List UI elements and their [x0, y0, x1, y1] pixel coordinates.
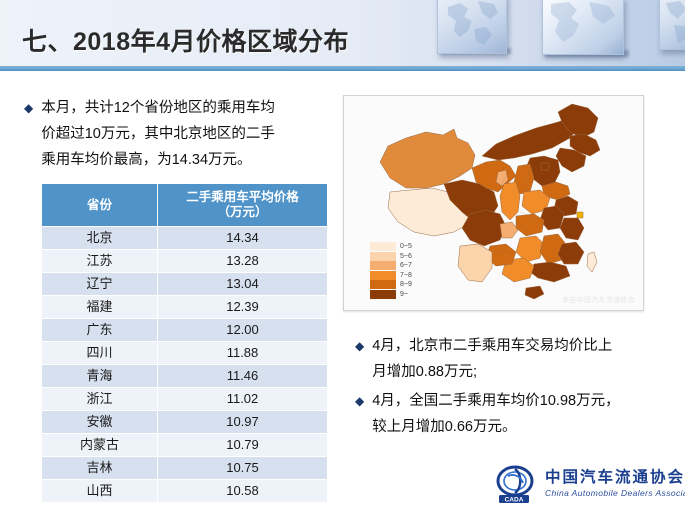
cell-price: 13.28 [158, 250, 328, 273]
summary-line-2: 价超过10万元，其中北京地区的二手 [41, 121, 275, 147]
summary-line-1: 本月，共计12个省份地区的乘用车均 [41, 95, 275, 121]
legend-item: 5~6 [370, 252, 412, 262]
cell-price: 11.88 [158, 342, 328, 365]
insight-bullet-1: ◆ 4月，北京市二手乘用车交易均价比上 月增加0.88万元; [355, 333, 655, 385]
summary-line-3: 乘用车均价最高，为14.34万元。 [41, 147, 275, 173]
cell-price: 10.97 [158, 411, 328, 434]
cell-price: 11.46 [158, 365, 328, 388]
cell-province: 福建 [42, 296, 158, 319]
legend-item: 0~5 [370, 242, 412, 252]
column-header-price: 二手乘用车平均价格 （万元） [158, 184, 328, 227]
table-row: 内蒙古10.79 [42, 434, 328, 457]
cell-price: 10.58 [158, 480, 328, 503]
legend-label: 8~9 [400, 280, 412, 290]
legend-label: 5~6 [400, 252, 412, 262]
province-price-table: 省份 二手乘用车平均价格 （万元） 北京14.34 江苏13.28 辽宁13.0… [41, 183, 328, 503]
cada-emblem-icon: CADA [495, 464, 539, 504]
column-header-price-line2: （万元） [160, 205, 325, 220]
insight-1-line-1: 4月，北京市二手乘用车交易均价比上 [372, 333, 612, 359]
cada-emblem-svg: CADA [495, 464, 539, 504]
legend-item: 8~9 [370, 280, 412, 290]
bullet-diamond-icon: ◆ [355, 388, 364, 414]
cada-name-cn: 中国汽车流通协会 [545, 470, 685, 486]
insight-bullets: ◆ 4月，北京市二手乘用车交易均价比上 月增加0.88万元; ◆ 4月，全国二手… [355, 333, 655, 443]
table-row: 福建12.39 [42, 296, 328, 319]
cell-price: 12.00 [158, 319, 328, 342]
insight-bullet-2-text: 4月，全国二手乘用车均价10.98万元， 较上月增加0.66万元。 [372, 388, 619, 440]
map-legend: 0~5 5~6 6~7 7~8 8~9 9~ [370, 242, 412, 299]
column-header-province: 省份 [42, 184, 158, 227]
page-title: 七、2018年4月价格区域分布 [22, 22, 349, 58]
legend-swatch-icon [370, 280, 396, 289]
cell-province: 吉林 [42, 457, 158, 480]
cell-province: 广东 [42, 319, 158, 342]
cell-price: 11.02 [158, 388, 328, 411]
cell-province: 浙江 [42, 388, 158, 411]
insight-bullet-1-text: 4月，北京市二手乘用车交易均价比上 月增加0.88万元; [372, 333, 612, 385]
insight-1-line-2: 月增加0.88万元; [372, 359, 612, 385]
insight-2-line-2: 较上月增加0.66万元。 [372, 414, 619, 440]
summary-bullet-text: 本月，共计12个省份地区的乘用车均 价超过10万元，其中北京地区的二手 乘用车均… [41, 95, 275, 173]
legend-swatch-icon [370, 252, 396, 261]
insight-2-line-1: 4月，全国二手乘用车均价10.98万元， [372, 388, 619, 414]
slide-root: 七、2018年4月价格区域分布 ◆ 本月，共计12个省份地区的乘用车均 价超过1… [0, 0, 685, 513]
cada-logo-text: 中国汽车流通协会 China Automobile Dealers Associ… [545, 470, 685, 497]
cell-province: 山西 [42, 480, 158, 503]
cada-logo: CADA 中国汽车流通协会 China Automobile Dealers A… [495, 462, 677, 506]
slide-header: 七、2018年4月价格区域分布 [0, 0, 685, 66]
legend-item: 7~8 [370, 271, 412, 281]
decorative-cube-left [437, 0, 507, 54]
table-row: 安徽10.97 [42, 411, 328, 434]
legend-label: 0~5 [400, 242, 412, 252]
map-watermark: 来自中国汽车流通协会 [562, 295, 635, 305]
legend-swatch-icon [370, 271, 396, 280]
legend-label: 7~8 [400, 271, 412, 281]
cell-province: 青海 [42, 365, 158, 388]
legend-item: 6~7 [370, 261, 412, 271]
china-choropleth-map: 0~5 5~6 6~7 7~8 8~9 9~ 来自中国汽 [343, 95, 644, 311]
cell-province: 四川 [42, 342, 158, 365]
legend-swatch-icon [370, 261, 396, 270]
table-row: 江苏13.28 [42, 250, 328, 273]
table-row: 浙江11.02 [42, 388, 328, 411]
cell-price: 13.04 [158, 273, 328, 296]
bullet-diamond-icon: ◆ [24, 95, 33, 121]
table-head: 省份 二手乘用车平均价格 （万元） [42, 184, 328, 227]
cell-price: 12.39 [158, 296, 328, 319]
cada-name-en: China Automobile Dealers Association [545, 489, 685, 498]
legend-label: 6~7 [400, 261, 412, 271]
cell-province: 内蒙古 [42, 434, 158, 457]
table-row: 吉林10.75 [42, 457, 328, 480]
table-header-row: 省份 二手乘用车平均价格 （万元） [42, 184, 328, 227]
table-row: 广东12.00 [42, 319, 328, 342]
table-row: 青海11.46 [42, 365, 328, 388]
table-row: 山西10.58 [42, 480, 328, 503]
world-map-texture-icon [660, 0, 685, 49]
cell-price: 10.79 [158, 434, 328, 457]
column-header-price-line1: 二手乘用车平均价格 [160, 190, 325, 205]
bullet-diamond-icon: ◆ [355, 333, 364, 359]
cell-price: 10.75 [158, 457, 328, 480]
table-row: 辽宁13.04 [42, 273, 328, 296]
summary-bullet: ◆ 本月，共计12个省份地区的乘用车均 价超过10万元，其中北京地区的二手 乘用… [24, 95, 332, 173]
header-cube-decoration [395, 0, 685, 66]
table-body: 北京14.34 江苏13.28 辽宁13.04 福建12.39 广东12.00 … [42, 227, 328, 503]
legend-item: 9~ [370, 290, 412, 300]
cada-abbr-label: CADA [505, 497, 524, 504]
legend-swatch-icon [370, 242, 396, 251]
decorative-cube-right [659, 0, 685, 50]
cell-province: 江苏 [42, 250, 158, 273]
cell-province: 辽宁 [42, 273, 158, 296]
insight-bullet-2: ◆ 4月，全国二手乘用车均价10.98万元， 较上月增加0.66万元。 [355, 388, 655, 440]
world-map-texture-icon [543, 0, 623, 54]
cell-price: 14.34 [158, 227, 328, 250]
title-divider-highlight [0, 71, 685, 73]
cell-province: 安徽 [42, 411, 158, 434]
legend-label: 9~ [400, 290, 408, 300]
world-map-texture-icon [438, 0, 506, 53]
legend-swatch-icon [370, 290, 396, 299]
cell-province: 北京 [42, 227, 158, 250]
table-row: 四川11.88 [42, 342, 328, 365]
decorative-cube-center [542, 0, 624, 55]
table-row: 北京14.34 [42, 227, 328, 250]
